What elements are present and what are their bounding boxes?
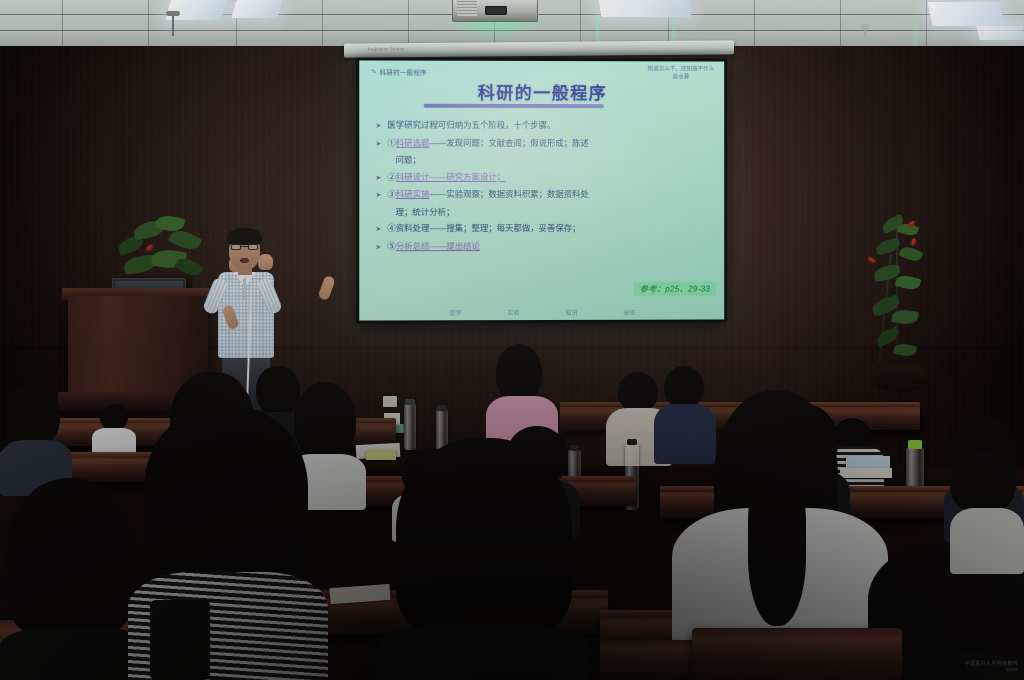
presenter-right-hand [258, 254, 273, 270]
bullet-text: ——研究方案设计； [429, 172, 505, 182]
ceiling-light-panel [927, 2, 1004, 26]
ceiling-light-panel [599, 0, 692, 17]
bullet-arrow-icon: ➤ [375, 186, 381, 203]
ceiling-light-panel [977, 26, 1024, 40]
slide-header-right-line1: 知道怎么干、还知道干什么 [648, 65, 715, 73]
bullet-text: ——实验观察；数据资料积累；数据资料处 [429, 189, 588, 199]
chair-back [692, 628, 902, 680]
ceiling-projector [452, 0, 538, 22]
audience-member [0, 382, 72, 492]
bullet-arrow-icon: ➤ [375, 238, 381, 255]
pencil-icon: ✎ [371, 68, 376, 75]
bullet-link: 科研实施 [396, 189, 430, 199]
lecture-hall-photo: Projection Screen ✎ 科研的一般程序 知道怎么干、还知道干什么… [0, 0, 1024, 680]
wall-outlet[interactable] [383, 396, 397, 407]
bullet-arrow-icon: ➤ [375, 169, 381, 186]
slide-bullet: ➤ ②科研设计——研究方案设计； [375, 169, 712, 186]
bullet-link: 分析总结 [396, 241, 430, 251]
slide-header-left: ✎ 科研的一般程序 [371, 67, 426, 77]
title-underline-rule [424, 104, 604, 108]
bullet-text: 资料处理——搜集；整理；每天都做，妥善保存； [396, 223, 581, 233]
audience-member-foreground [672, 390, 888, 640]
bullet-continuation: 理；统计分析； [375, 204, 712, 221]
bullet-text: 医学研究过程可归纳为五个阶段，十个步骤。 [387, 117, 712, 134]
screen-case-label: Projection Screen [368, 46, 405, 51]
bullet-prefix: ② [387, 172, 395, 182]
slide-bullet: ➤ ①科研选题——发现问题；文献查阅；假说形成；陈述 [375, 134, 712, 151]
ceiling-light-panel [165, 0, 227, 20]
slide-footer-item: 知识 [565, 308, 577, 317]
slide-bullet: ➤ ④资料处理——搜集；整理；每天都做，妥善保存； [375, 220, 712, 237]
slide-footer: 医学 实验 知识 总结 [359, 308, 724, 318]
ceiling-light-panel [231, 0, 282, 18]
eyeglasses-icon [231, 244, 258, 250]
bullet-continuation: 问题； [375, 152, 712, 169]
bullet-link: 科研设计 [396, 172, 430, 182]
slide-bullet: ➤ ③科研实施——实验观察；数据资料积累；数据资料处 [375, 186, 712, 203]
projection-screen: ✎ 科研的一般程序 知道怎么干、还知道干什么 是水要 科研的一般程序 ➤ 医学研… [356, 57, 727, 323]
slide-reference-highlight: 参考：p25、29-33 [634, 282, 716, 296]
bullet-prefix: ④ [387, 223, 395, 233]
bullet-text: ——提出结论 [429, 241, 479, 251]
bullet-text: ——发现问题；文献查阅；假说形成；陈述 [429, 138, 588, 148]
potted-plant-right [866, 214, 944, 394]
slide-bullet: ➤ 医学研究过程可归纳为五个阶段，十个步骤。 [375, 117, 712, 134]
bullet-prefix: ① [387, 137, 395, 147]
audience-member-foreground [950, 452, 1024, 572]
presenter-mouth [240, 258, 249, 263]
presenter-placket [243, 278, 246, 300]
slide-bullet-list: ➤ 医学研究过程可归纳为五个阶段，十个步骤。 ➤ ①科研选题——发现问题；文献查… [375, 117, 712, 256]
audience-member-foreground [378, 438, 588, 680]
bullet-prefix: ⑤ [387, 241, 395, 251]
presenter-hair [227, 228, 262, 245]
projector-vent [457, 1, 477, 17]
bullet-arrow-icon: ➤ [375, 134, 381, 151]
slide-footer-item: 医学 [449, 308, 461, 317]
audience-bag-strap [150, 600, 210, 680]
ceiling-hook [172, 14, 174, 36]
smoke-detector-icon [861, 24, 870, 30]
bullet-prefix: ③ [387, 189, 395, 199]
presentation-slide: ✎ 科研的一般程序 知道怎么干、还知道干什么 是水要 科研的一般程序 ➤ 医学研… [359, 60, 724, 320]
slide-footer-item: 实验 [507, 308, 519, 317]
bullet-arrow-icon: ➤ [375, 117, 381, 134]
bullet-link: 科研选题 [396, 137, 430, 147]
slide-header-left-text: 科研的一般程序 [380, 67, 427, 77]
bullet-arrow-icon: ➤ [375, 220, 381, 237]
projector-lens-icon [485, 6, 507, 15]
slide-footer-item: 总结 [623, 308, 635, 317]
slide-bullet: ➤ ⑤分析总结——提出结论 [375, 238, 712, 255]
slide-title: 科研的一般程序 [359, 79, 724, 105]
